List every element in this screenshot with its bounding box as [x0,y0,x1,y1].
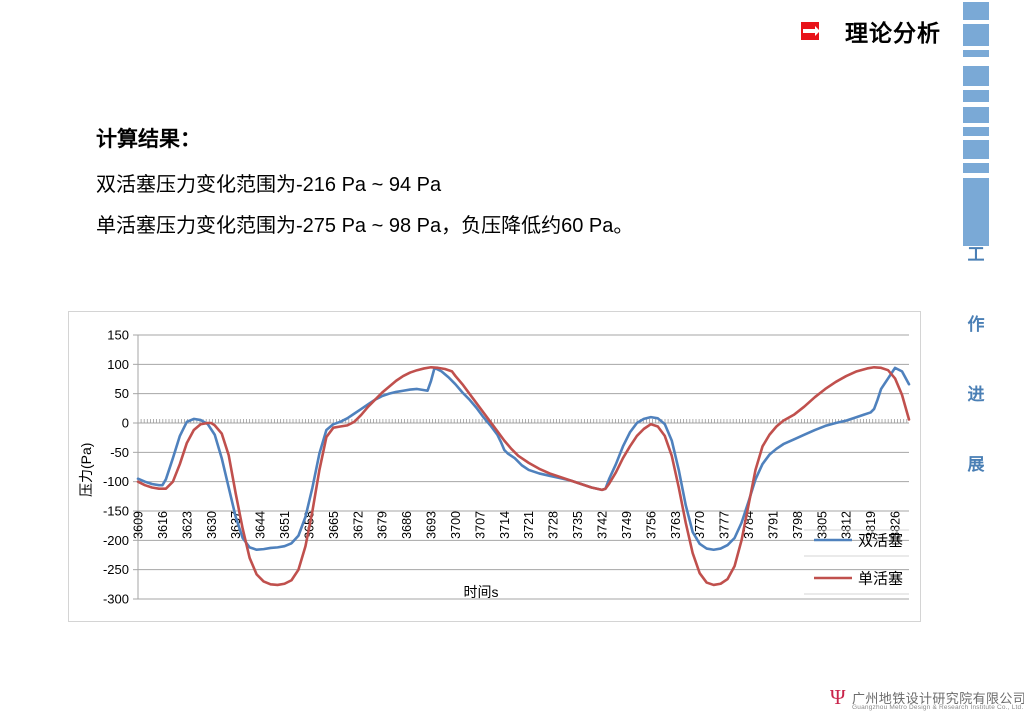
xtick-label-3707: 3707 [473,511,487,539]
rail-char-3: 展 [963,450,989,475]
legend-label-单活塞: 单活塞 [858,570,903,588]
chart-svg: 150100500-50-100-150-200-250-30036093616… [69,312,918,619]
xtick-label-3812: 3812 [840,511,854,539]
right-rail-decoration: 工作进展 [963,0,1024,724]
xtick-label-3777: 3777 [718,511,732,539]
xtick-label-3742: 3742 [596,511,610,539]
xtick-label-3763: 3763 [669,511,683,539]
xtick-label-3630: 3630 [205,511,219,539]
ytick-label-0: 0 [122,416,129,431]
single-piston-range-text: 单活塞压力变化范围为-275 Pa ~ 98 Pa，负压降低约60 Pa。 [96,209,633,238]
rail-char-2: 进 [963,380,989,405]
logo-mark-icon: Ψ [830,688,848,708]
rail-bar-4 [963,90,989,102]
legend-label-双活塞: 双活塞 [858,532,903,550]
xtick-label-3735: 3735 [571,511,585,539]
xtick-label-3686: 3686 [400,511,414,539]
x-axis-title: 时间s [464,584,499,600]
rail-char-0: 工 [963,240,989,265]
xtick-label-3805: 3805 [815,511,829,539]
ytick-label--300: -300 [103,592,129,607]
rail-bar-5 [963,107,989,123]
series-line-单活塞 [138,367,909,585]
xtick-label-3693: 3693 [425,511,439,539]
ytick-label--200: -200 [103,533,129,548]
rail-bar-3 [963,66,989,86]
rail-bar-6 [963,127,989,136]
xtick-label-3756: 3756 [644,511,658,539]
ytick-label-50: 50 [115,386,129,401]
y-axis-title: 压力(Pa) [78,443,94,497]
rail-char-1: 作 [963,310,989,335]
xtick-label-3714: 3714 [498,511,512,539]
xtick-label-3798: 3798 [791,511,805,539]
ytick-label--250: -250 [103,562,129,577]
arrow-right-icon [801,22,819,40]
xtick-label-3721: 3721 [522,511,536,539]
xtick-label-3644: 3644 [254,511,268,539]
page-title: 理论分析 [845,14,941,48]
rail-bar-0 [963,2,989,20]
xtick-label-3609: 3609 [132,511,146,539]
xtick-label-3616: 3616 [156,511,170,539]
xtick-label-3665: 3665 [327,511,341,539]
ytick-label--100: -100 [103,474,129,489]
xtick-label-3679: 3679 [376,511,390,539]
calc-result-heading: 计算结果： [96,123,201,153]
rail-bar-2 [963,50,989,57]
xtick-label-3651: 3651 [278,511,292,539]
ytick-label--50: -50 [110,445,129,460]
rail-bar-1 [963,24,989,46]
xtick-label-3672: 3672 [351,511,365,539]
xtick-label-3700: 3700 [449,511,463,539]
rail-bar-7 [963,140,989,159]
rail-bar-8 [963,163,989,173]
double-piston-range-text: 双活塞压力变化范围为-216 Pa ~ 94 Pa [96,168,441,197]
pressure-chart: 150100500-50-100-150-200-250-30036093616… [68,311,921,622]
arrow-shape [803,29,817,33]
xtick-label-3623: 3623 [180,511,194,539]
xtick-label-3791: 3791 [766,511,780,539]
rail-bar-9 [963,178,989,246]
ytick-label-100: 100 [107,357,129,372]
logo-company-name-en: Guangzhou Metro Design & Research Instit… [852,704,1023,711]
slide-canvas: 理论分析 工作进展 计算结果： 双活塞压力变化范围为-216 Pa ~ 94 P… [0,0,1024,724]
xtick-label-3728: 3728 [547,511,561,539]
ytick-label-150: 150 [107,328,129,343]
ytick-label--150: -150 [103,504,129,519]
xtick-label-3749: 3749 [620,511,634,539]
